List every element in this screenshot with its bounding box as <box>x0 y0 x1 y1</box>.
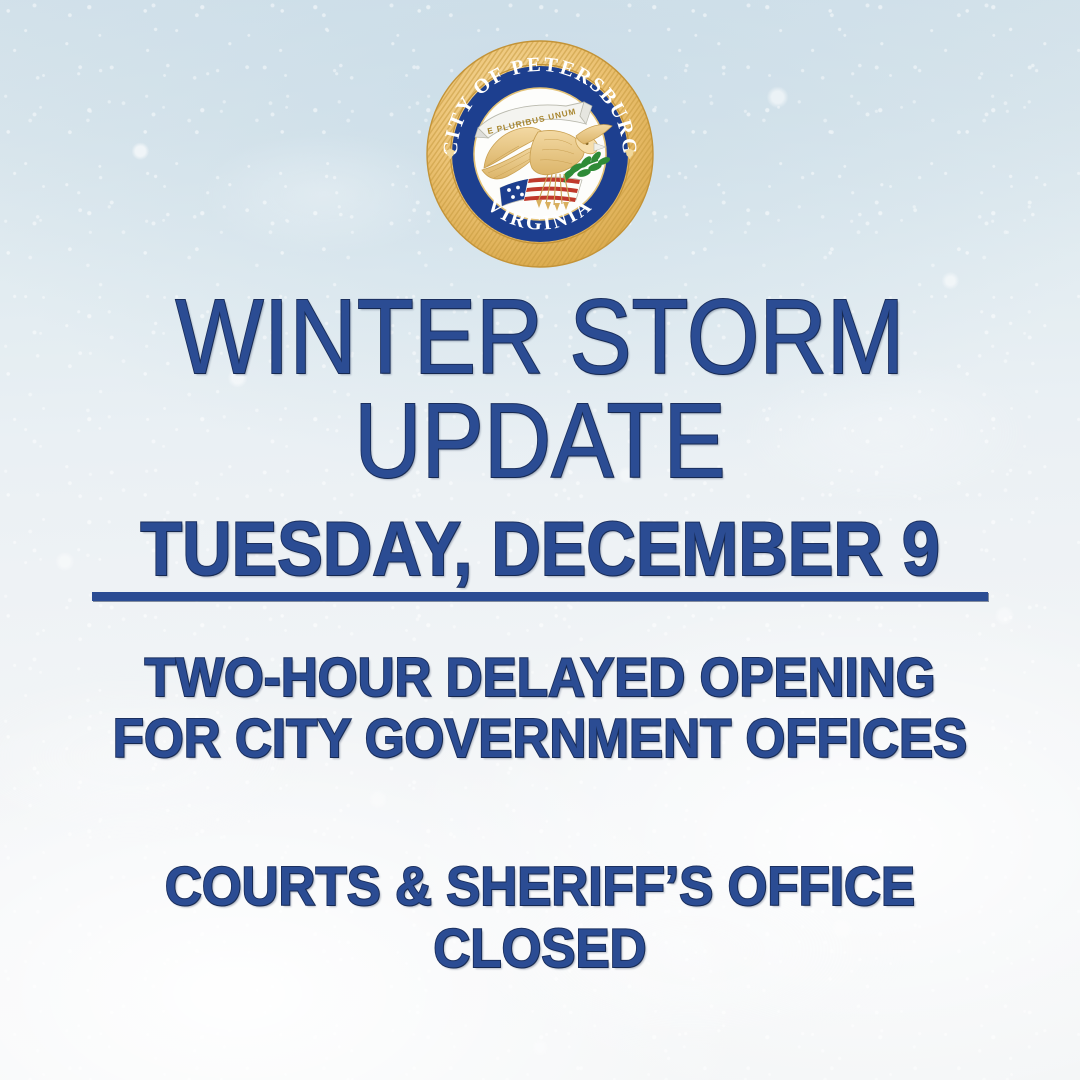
winter-storm-update-poster: CITY OF PETERSBURG VIRGINIA <box>0 0 1080 1080</box>
date-underline <box>92 592 988 601</box>
announcement-delayed-opening: TWO-HOUR DELAYED OPENING FOR CITY GOVERN… <box>38 647 1042 770</box>
date-row: TUESDAY, DECEMBER 9 <box>0 512 1080 601</box>
poster-text-stack: WINTER STORM UPDATE TUESDAY, DECEMBER 9 … <box>0 286 1080 979</box>
page-title: WINTER STORM UPDATE <box>65 286 1015 494</box>
city-seal: CITY OF PETERSBURG VIRGINIA <box>426 40 654 268</box>
announcement-courts-closed: COURTS & SHERIFF’S OFFICE CLOSED <box>38 856 1042 979</box>
date-text: TUESDAY, DECEMBER 9 <box>140 512 939 588</box>
